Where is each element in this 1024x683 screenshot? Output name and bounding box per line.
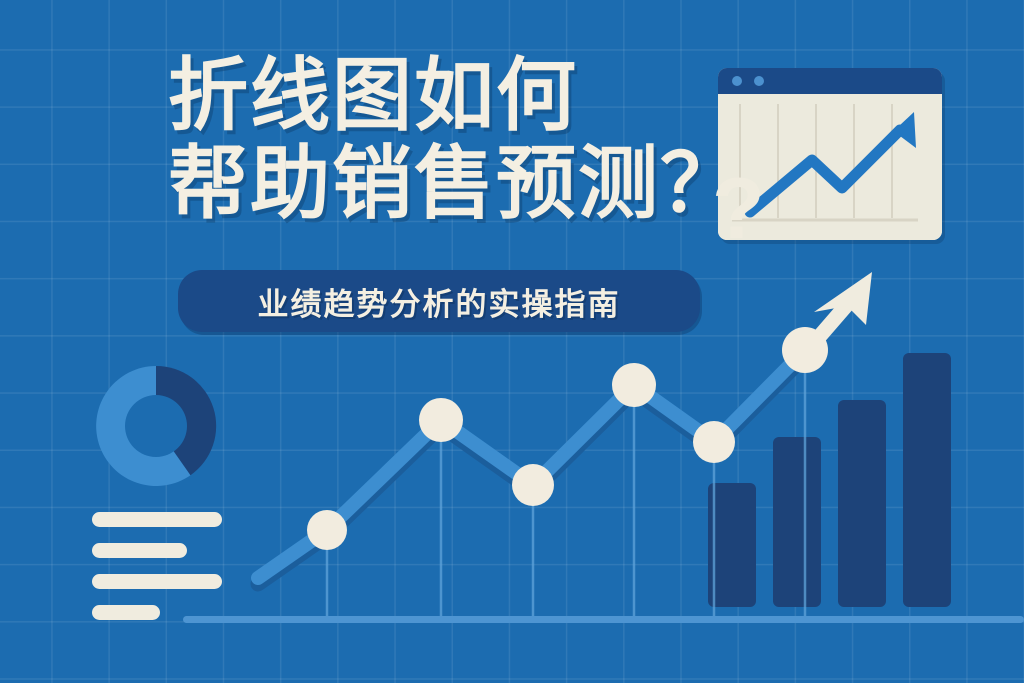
window-dot-1-icon <box>732 76 742 86</box>
bar-q3 <box>838 400 886 607</box>
headline-line-1: 折线图如何 <box>168 52 728 140</box>
data-point-4 <box>612 363 656 407</box>
bar-q4 <box>903 353 951 607</box>
browser-titlebar <box>718 68 942 94</box>
browser-content-area <box>718 94 942 240</box>
data-point-2 <box>419 398 463 442</box>
legend-bar-3 <box>92 574 222 589</box>
data-point-5 <box>693 421 735 463</box>
line-series <box>258 350 805 578</box>
bar-q1 <box>708 483 756 607</box>
poster-canvas: 折线图如何 帮助销售预测？ 业绩趋势分析的实操指南 <box>0 0 1024 683</box>
legend-bar-2 <box>92 543 187 558</box>
growth-arrow-icon <box>806 272 872 352</box>
marker-droplines <box>327 350 805 616</box>
upward-trend-arrow-icon <box>718 94 942 240</box>
text-lines-icon <box>92 512 222 620</box>
data-point-3 <box>512 464 554 506</box>
subtitle-text: 业绩趋势分析的实操指南 <box>258 279 621 324</box>
data-point-6 <box>782 327 828 373</box>
subtitle-badge: 业绩趋势分析的实操指南 <box>178 270 700 332</box>
line-shadow <box>258 356 805 584</box>
page-title: 折线图如何 帮助销售预测？ <box>168 52 728 228</box>
data-point-1 <box>307 510 347 550</box>
chart-baseline <box>183 616 1024 623</box>
browser-window-icon <box>718 68 942 240</box>
donut-chart-icon <box>92 362 220 490</box>
window-dot-2-icon <box>754 76 764 86</box>
line-markers <box>307 327 828 550</box>
legend-bar-1 <box>92 512 222 527</box>
headline-line-2: 帮助销售预测？ <box>168 140 728 228</box>
bar-q2 <box>773 437 821 607</box>
legend-bar-4 <box>92 605 160 620</box>
